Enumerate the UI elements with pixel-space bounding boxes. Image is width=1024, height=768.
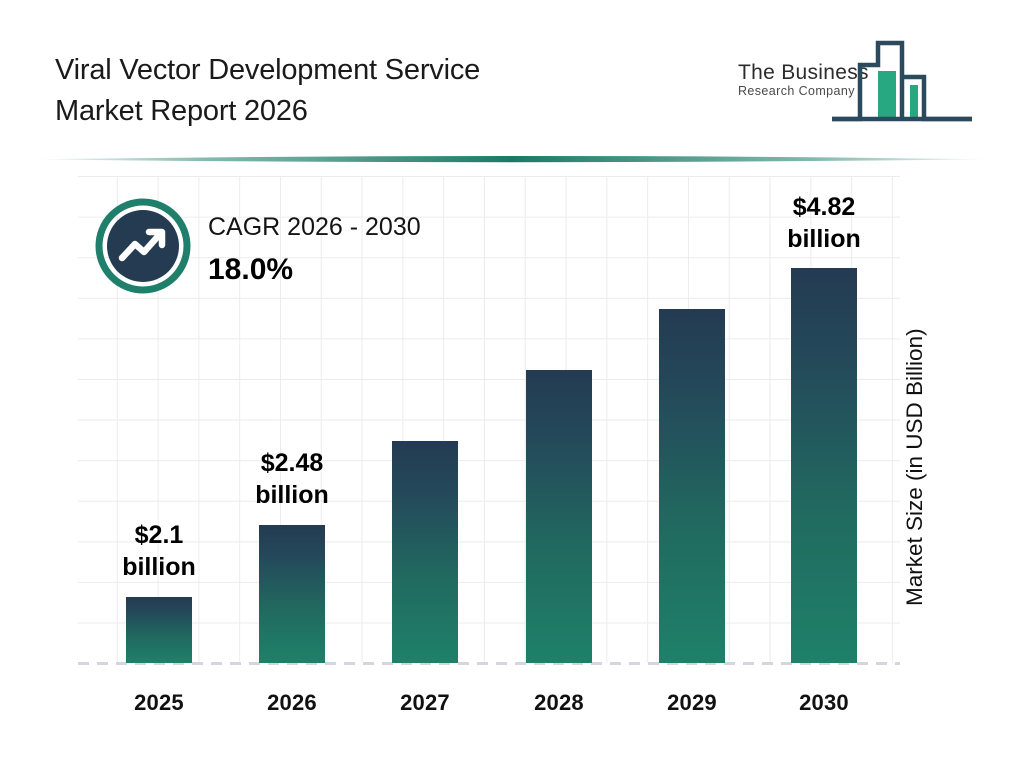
x-label-2028: 2028 (489, 690, 629, 716)
company-logo: The Business Research Company (732, 33, 972, 125)
bar-2028[interactable] (526, 370, 592, 663)
report-header: Viral Vector Development Service Market … (0, 0, 1024, 150)
bar-value-label-2025: $2.1 billion (89, 519, 229, 583)
x-label-2027: 2027 (355, 690, 495, 716)
bar-2027[interactable] (392, 441, 458, 663)
logo-outline-path (832, 43, 972, 119)
bar-value-label-2030: $4.82 billion (754, 191, 894, 255)
x-label-2029: 2029 (622, 690, 762, 716)
header-divider (38, 152, 986, 166)
bar-2026[interactable] (259, 525, 325, 663)
x-label-2025: 2025 (89, 690, 229, 716)
x-label-2030: 2030 (754, 690, 894, 716)
logo-accent-bar-tall (878, 71, 896, 119)
cagr-disc (107, 210, 179, 282)
bar-chart-logo-mark (832, 33, 972, 125)
bar-2030[interactable] (791, 268, 857, 663)
y-axis-title: Market Size (in USD Billion) (902, 266, 928, 606)
cagr-value: 18.0% (208, 253, 293, 287)
cagr-badge: CAGR 2026 - 2030 18.0% (95, 198, 525, 303)
bar-value-label-2026: $2.48 billion (222, 447, 362, 511)
trending-up-icon (95, 198, 191, 294)
logo-accent-bar-short (910, 85, 918, 119)
bar-2029[interactable] (659, 309, 725, 663)
bar-chart: $2.1 billion $2.48 billion $4.82 billion… (0, 166, 1024, 768)
cagr-label: CAGR 2026 - 2030 (208, 213, 421, 242)
x-axis-baseline (78, 662, 900, 665)
page-title: Viral Vector Development Service Market … (55, 50, 675, 132)
x-label-2026: 2026 (222, 690, 362, 716)
bar-2025[interactable] (126, 597, 192, 663)
